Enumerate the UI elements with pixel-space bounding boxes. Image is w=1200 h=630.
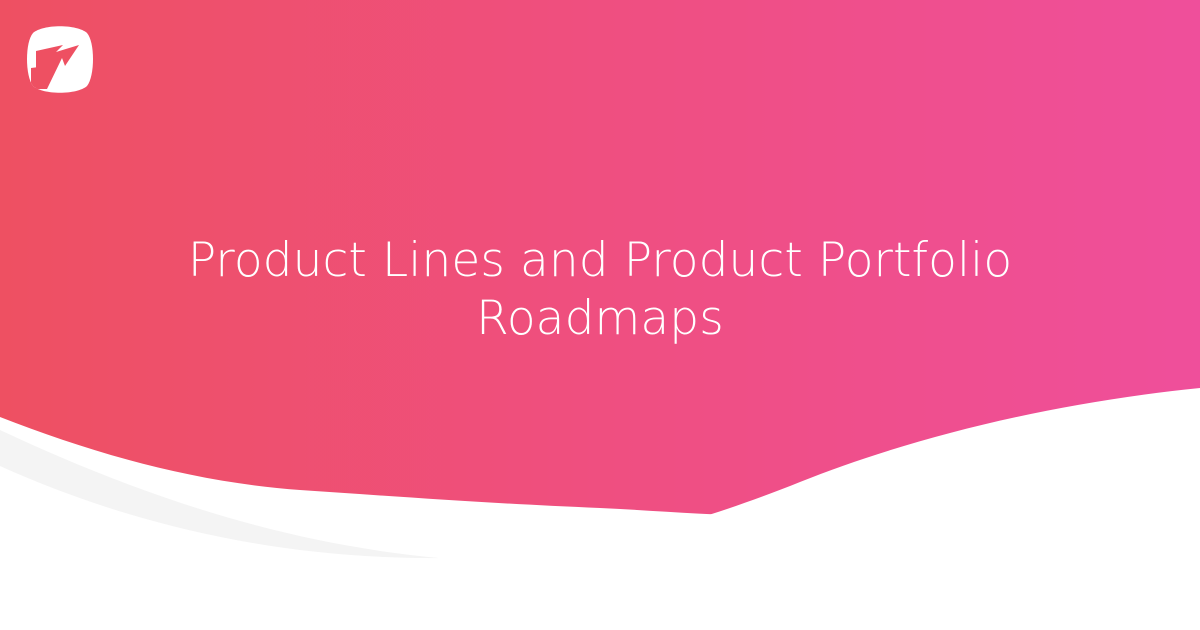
gradient-background	[0, 0, 1200, 630]
brand-logo[interactable]	[23, 21, 97, 97]
social-share-banner: Product Lines and Product Portfolio Road…	[0, 0, 1200, 630]
